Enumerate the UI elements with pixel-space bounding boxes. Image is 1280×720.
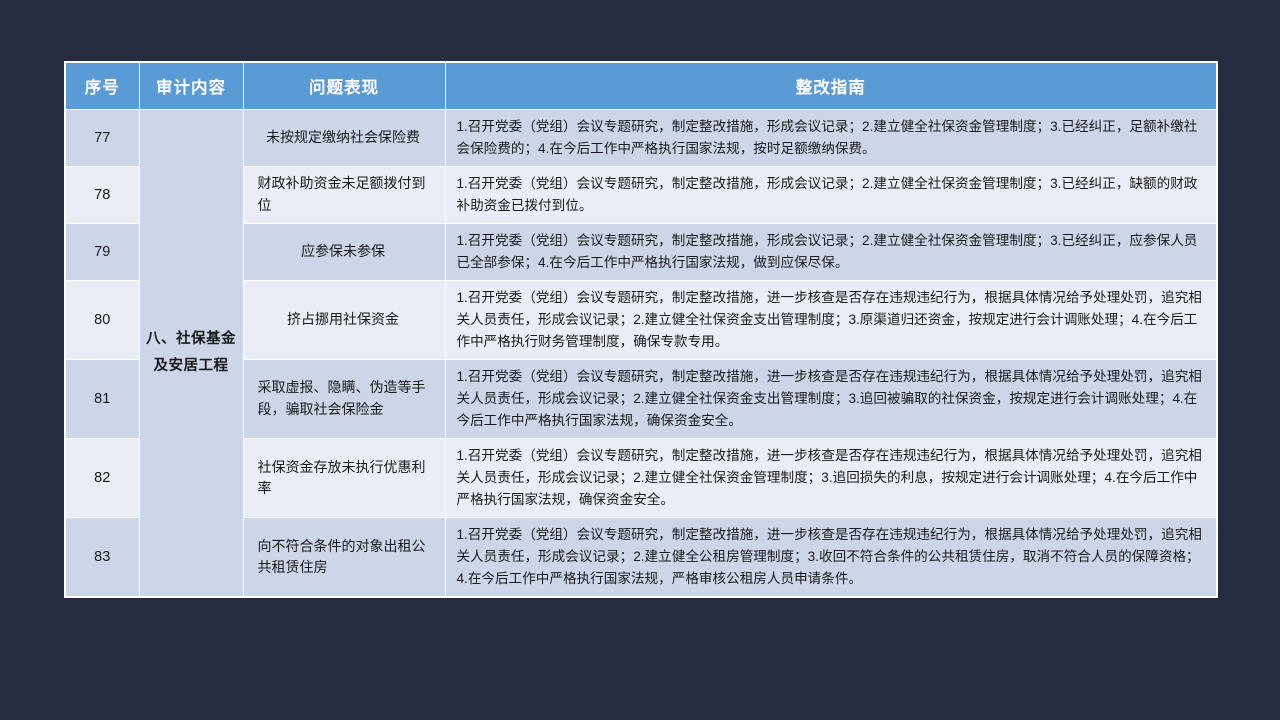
cell-guide: 1.召开党委（党组）会议专题研究，制定整改措施，进一步核查是否存在违规违纪行为，… bbox=[445, 281, 1217, 360]
table-header-row: 序号 审计内容 问题表现 整改指南 bbox=[65, 62, 1217, 110]
cell-guide: 1.召开党委（党组）会议专题研究，制定整改措施，进一步核查是否存在违规违纪行为，… bbox=[445, 439, 1217, 518]
column-header-guide: 整改指南 bbox=[445, 62, 1217, 110]
cell-guide: 1.召开党委（党组）会议专题研究，制定整改措施，形成会议记录；2.建立健全社保资… bbox=[445, 224, 1217, 281]
cell-guide: 1.召开党委（党组）会议专题研究，制定整改措施，进一步核查是否存在违规违纪行为，… bbox=[445, 360, 1217, 439]
cell-issue: 采取虚报、隐瞒、伪造等手段，骗取社会保险金 bbox=[243, 360, 445, 439]
cell-seq: 79 bbox=[65, 224, 139, 281]
table-header: 序号 审计内容 问题表现 整改指南 bbox=[65, 62, 1217, 110]
cell-issue: 挤占挪用社保资金 bbox=[243, 281, 445, 360]
cell-seq: 78 bbox=[65, 167, 139, 224]
column-header-seq: 序号 bbox=[65, 62, 139, 110]
cell-seq: 83 bbox=[65, 518, 139, 598]
cell-guide: 1.召开党委（党组）会议专题研究，制定整改措施，形成会议记录；2.建立健全社保资… bbox=[445, 110, 1217, 167]
topic-group-line-1: 八、社保基金 bbox=[144, 326, 239, 354]
cell-issue: 财政补助资金未足额拨付到位 bbox=[243, 167, 445, 224]
slide-canvas: 序号 审计内容 问题表现 整改指南 77八、社保基金及安居工程未按规定缴纳社会保… bbox=[0, 0, 1280, 720]
cell-issue: 社保资金存放未执行优惠利率 bbox=[243, 439, 445, 518]
cell-issue: 未按规定缴纳社会保险费 bbox=[243, 110, 445, 167]
table-row: 77八、社保基金及安居工程未按规定缴纳社会保险费1.召开党委（党组）会议专题研究… bbox=[65, 110, 1217, 167]
cell-seq: 80 bbox=[65, 281, 139, 360]
topic-group-line-2: 及安居工程 bbox=[144, 353, 239, 381]
cell-seq: 81 bbox=[65, 360, 139, 439]
cell-topic-group: 八、社保基金及安居工程 bbox=[139, 110, 243, 598]
audit-rectification-table: 序号 审计内容 问题表现 整改指南 77八、社保基金及安居工程未按规定缴纳社会保… bbox=[64, 61, 1218, 598]
column-header-issue: 问题表现 bbox=[243, 62, 445, 110]
table-body: 77八、社保基金及安居工程未按规定缴纳社会保险费1.召开党委（党组）会议专题研究… bbox=[65, 110, 1217, 598]
cell-guide: 1.召开党委（党组）会议专题研究，制定整改措施，形成会议记录；2.建立健全社保资… bbox=[445, 167, 1217, 224]
table-container: 序号 审计内容 问题表现 整改指南 77八、社保基金及安居工程未按规定缴纳社会保… bbox=[64, 61, 1216, 598]
cell-seq: 82 bbox=[65, 439, 139, 518]
cell-seq: 77 bbox=[65, 110, 139, 167]
cell-issue: 向不符合条件的对象出租公共租赁住房 bbox=[243, 518, 445, 598]
cell-issue: 应参保未参保 bbox=[243, 224, 445, 281]
cell-guide: 1.召开党委（党组）会议专题研究，制定整改措施，进一步核查是否存在违规违纪行为，… bbox=[445, 518, 1217, 598]
column-header-topic: 审计内容 bbox=[139, 62, 243, 110]
